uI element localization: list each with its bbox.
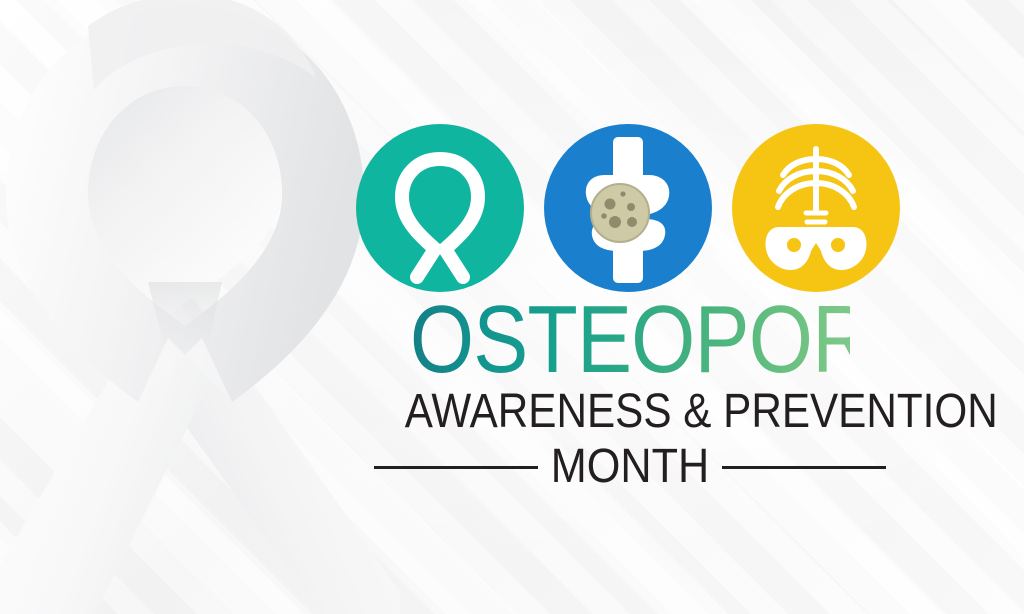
- month-label: MONTH: [547, 443, 713, 491]
- month-row: MONTH: [374, 443, 886, 491]
- page-title: OSTEOPOROSIS: [410, 296, 850, 384]
- bone-joint-badge[interactable]: [543, 123, 713, 293]
- poster-canvas: OSTEOPOROSIS AWARENESS & PREVENTION MONT…: [0, 0, 1024, 614]
- teal-circle: [356, 124, 524, 292]
- month-rule-right: [722, 466, 886, 469]
- porous-bone-inset: [591, 184, 649, 242]
- page-subtitle: AWARENESS & PREVENTION: [405, 388, 856, 436]
- icon-badge-row: [352, 121, 904, 297]
- awareness-ribbon-badge[interactable]: [355, 123, 525, 293]
- month-rule-left: [374, 466, 538, 469]
- spine-pelvis-badge[interactable]: [731, 123, 901, 293]
- headline-block: OSTEOPOROSIS AWARENESS & PREVENTION MONT…: [374, 296, 886, 491]
